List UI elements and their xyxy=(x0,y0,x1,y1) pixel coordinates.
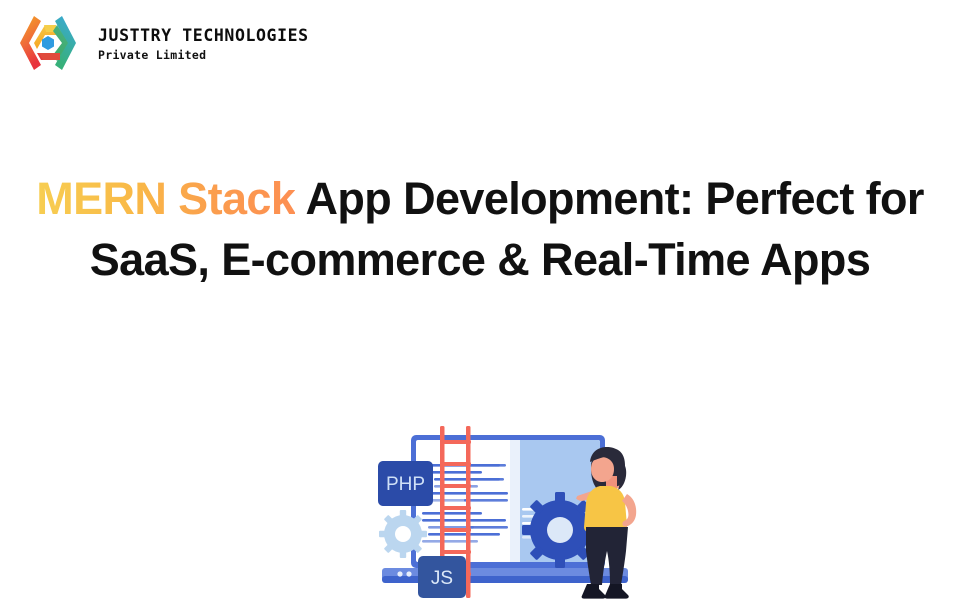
laptop-indicator-dot-2 xyxy=(406,571,411,576)
headline-accent: MERN Stack xyxy=(36,173,295,224)
brand-subtitle: Private Limited xyxy=(98,48,309,62)
laptop-indicator-dot-1 xyxy=(397,571,402,576)
hexagon-chevron-logo-icon xyxy=(12,12,84,74)
promo-banner: JUSTTRY TECHNOLOGIES Private Limited MER… xyxy=(0,0,960,600)
brand-header: JUSTTRY TECHNOLOGIES Private Limited xyxy=(12,12,309,74)
brand-text: JUSTTRY TECHNOLOGIES Private Limited xyxy=(98,24,309,62)
developer-workstation-illustration: PHP JS xyxy=(370,424,660,600)
brand-title: JUSTTRY TECHNOLOGIES xyxy=(98,26,309,45)
headline-rest: App Development: Perfect for xyxy=(295,173,924,224)
small-gear-icon xyxy=(379,510,427,558)
php-badge: PHP xyxy=(378,461,433,506)
js-badge: JS xyxy=(418,556,466,598)
php-badge-label: PHP xyxy=(386,474,425,495)
js-badge-label: JS xyxy=(431,568,453,589)
page-title: MERN Stack App Development: Perfect for … xyxy=(0,168,960,290)
headline-line-2: SaaS, E-commerce & Real-Time Apps xyxy=(0,229,960,290)
